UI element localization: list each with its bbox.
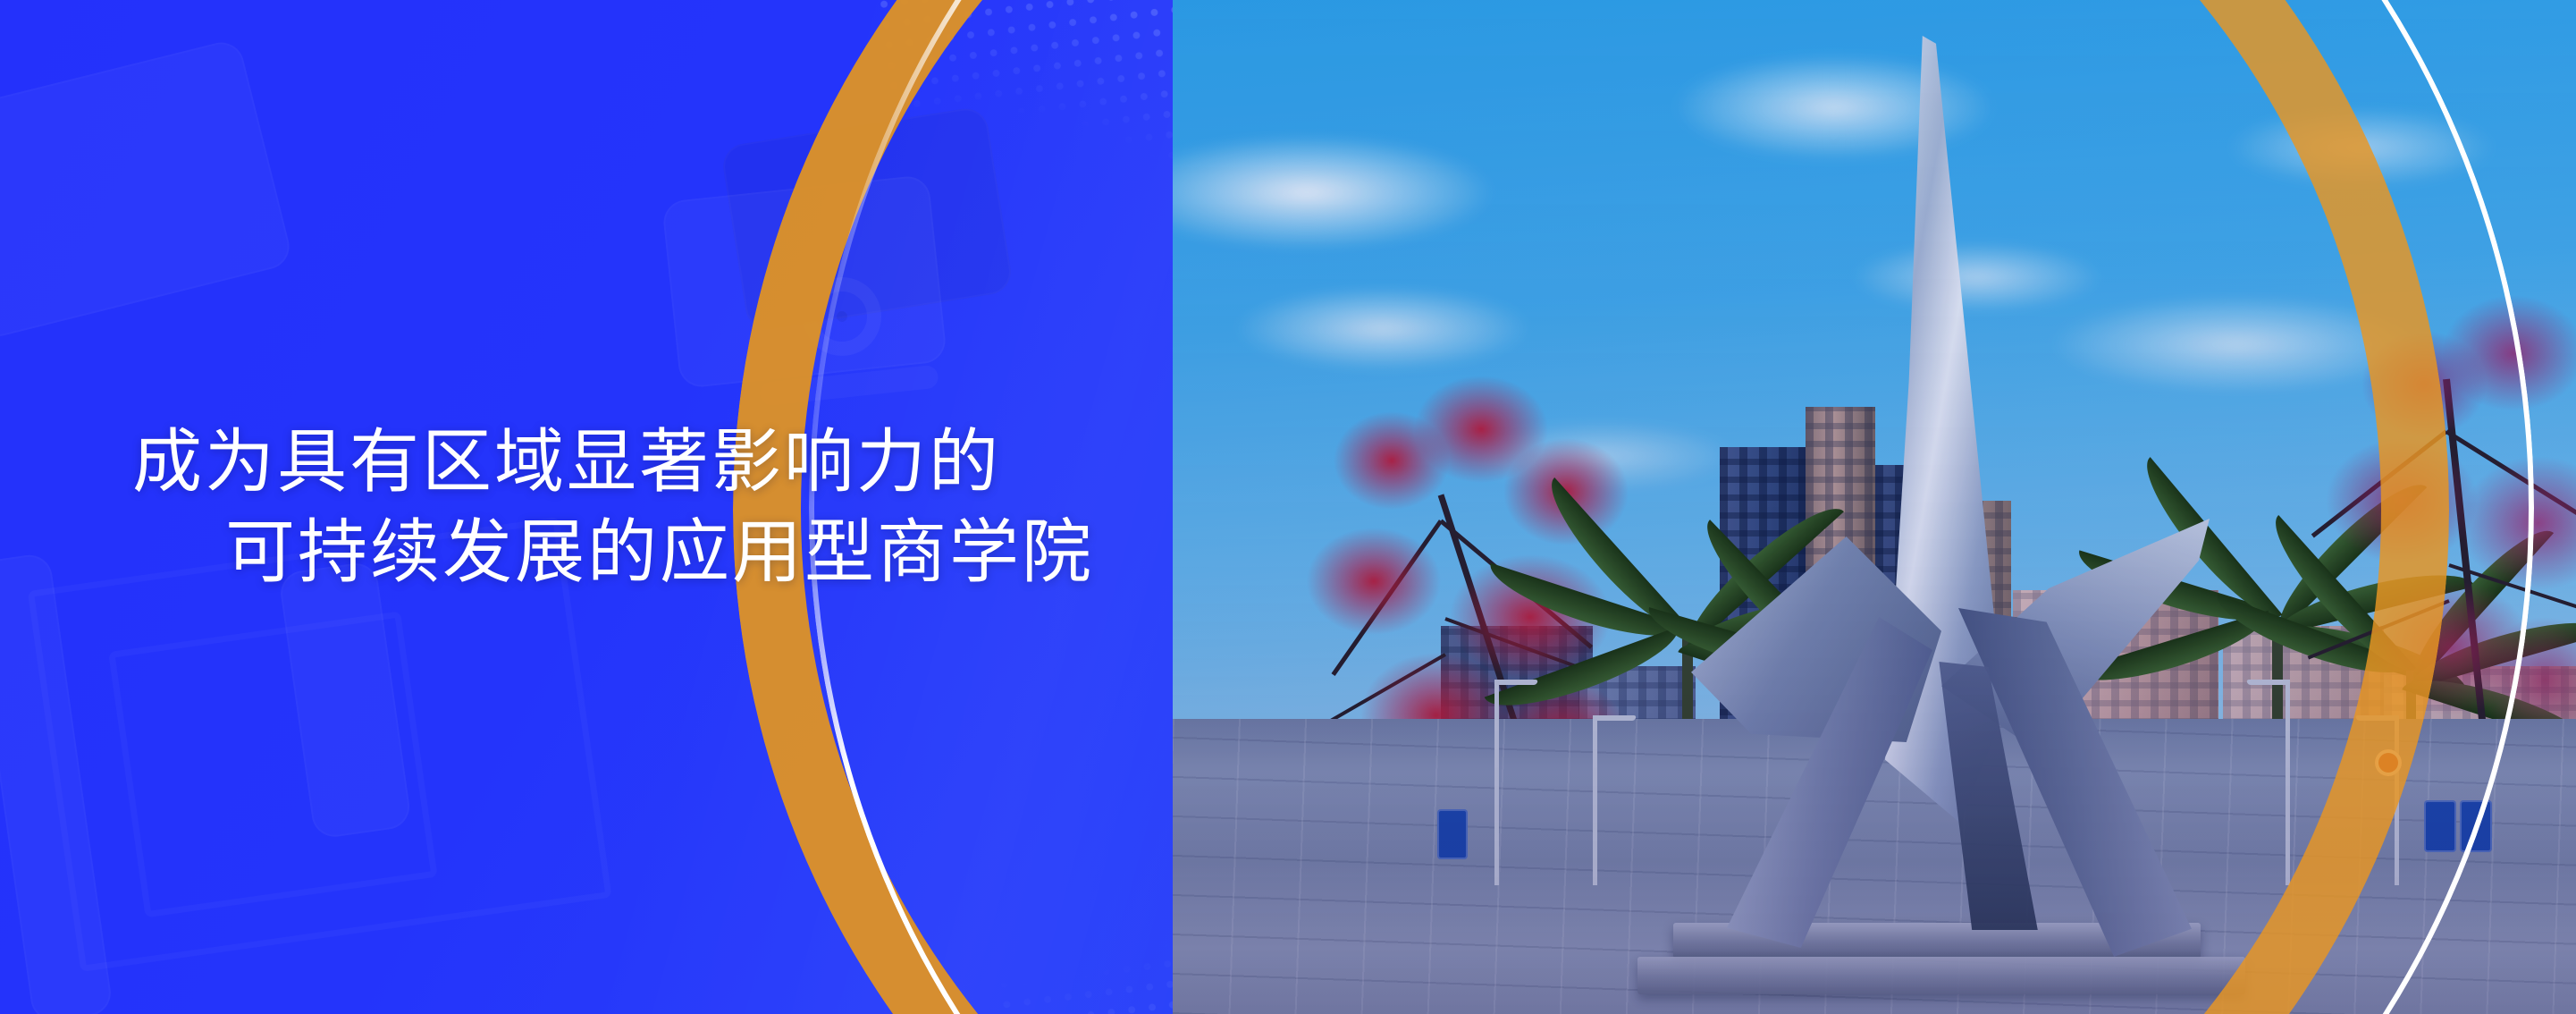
headline-line-2: 可持续发展的应用型商学院 <box>225 507 1180 597</box>
headline-line-1: 成为具有区域显著影响力的 <box>132 417 1180 507</box>
headline-block: 成为具有区域显著影响力的 可持续发展的应用型商学院 <box>0 0 1180 1014</box>
hero-banner: 成为具有区域显著影响力的 可持续发展的应用型商学院 <box>0 0 2576 1014</box>
